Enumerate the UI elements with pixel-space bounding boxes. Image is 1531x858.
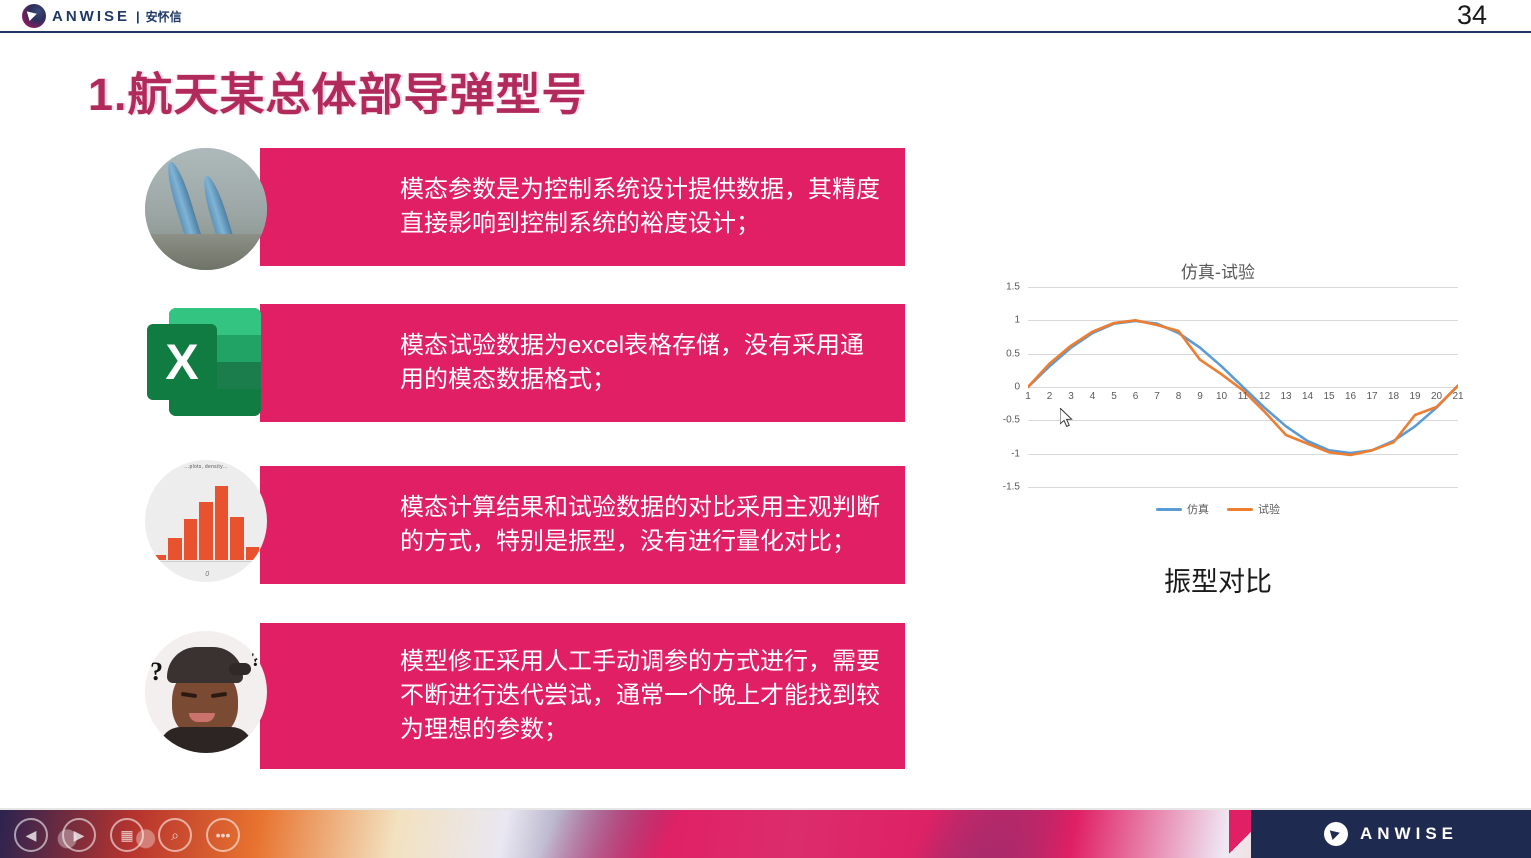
question-mark-icon-right: ? — [251, 649, 261, 672]
slide-canvas: ANWISE | 安怀信 34 1.航天某总体部导弹型号 模态参数是为控制系统设… — [0, 0, 1531, 858]
chart-series-canvas — [1028, 287, 1458, 487]
x-tick-label: 9 — [1197, 391, 1203, 402]
histogram-caption: ...plots, density... — [145, 464, 267, 470]
x-tick-label: 17 — [1366, 391, 1377, 402]
x-tick-label: 5 — [1111, 391, 1117, 402]
x-tick-label: 8 — [1176, 391, 1182, 402]
meme-torso — [159, 727, 253, 753]
footer-brand-name: ANWISE — [1360, 824, 1458, 844]
footer-brand: ANWISE — [1251, 810, 1531, 858]
page-number: 34 — [1457, 0, 1487, 31]
x-tick-label: 15 — [1323, 391, 1334, 402]
missile-photo-icon — [145, 148, 267, 270]
list-item: 模态试验数据为excel表格存储，没有采用通用的模态数据格式； X — [145, 292, 915, 440]
x-tick-label: 14 — [1302, 391, 1313, 402]
slide-grid-icon[interactable]: ▦ — [110, 818, 144, 852]
previous-slide-icon[interactable]: ◀ — [14, 818, 48, 852]
x-tick-label: 19 — [1409, 391, 1420, 402]
meme-cap — [167, 647, 243, 683]
x-tick-label: 21 — [1452, 391, 1463, 402]
x-tick-label: 12 — [1259, 391, 1270, 402]
bullet-banner-3: 模态计算结果和试验数据的对比采用主观判断的方式，特别是振型，没有进行量化对比； — [260, 466, 905, 584]
zoom-search-icon[interactable]: ⌕ — [158, 818, 192, 852]
legend-label: 仿真 — [1187, 501, 1209, 517]
brand-name: ANWISE — [52, 8, 130, 25]
legend-item[interactable]: 仿真 — [1156, 501, 1209, 517]
histogram-chart-icon: ...plots, density... -101 — [145, 460, 267, 582]
legend-item[interactable]: 试验 — [1227, 501, 1280, 517]
bullet-list: 模态参数是为控制系统设计提供数据，其精度直接影响到控制系统的裕度设计； 模态试验… — [145, 148, 915, 791]
confused-face-meme-icon: ? ? — [145, 631, 267, 753]
page-title: 1.航天某总体部导弹型号 — [88, 58, 588, 123]
chart-svg — [1028, 287, 1458, 487]
chart-title: 仿真-试验 — [968, 258, 1468, 283]
top-header-bar: ANWISE | 安怀信 34 — [0, 0, 1531, 33]
chart-y-axis-labels: 1.510.50-0.5-1-1.5 — [988, 287, 1024, 487]
x-tick-label: 7 — [1154, 391, 1160, 402]
brand-separator: | — [136, 9, 140, 24]
question-mark-icon-left: ? — [150, 657, 163, 687]
legend-swatch — [1227, 508, 1253, 511]
y-tick-label: 0.5 — [1006, 348, 1020, 359]
x-tick-label: 2 — [1047, 391, 1053, 402]
list-item: 模态参数是为控制系统设计提供数据，其精度直接影响到控制系统的裕度设计； — [145, 148, 915, 280]
y-tick-label: -1 — [1011, 448, 1020, 459]
chart-series-仿真 — [1028, 321, 1458, 453]
footer-band: ◀▶▦⌕••• ANWISE — [0, 810, 1531, 858]
x-tick-label: 1 — [1025, 391, 1031, 402]
y-tick-label: -1.5 — [1003, 482, 1020, 493]
microsoft-excel-icon: X — [145, 302, 267, 424]
bullet-text: 模态计算结果和试验数据的对比采用主观判断的方式，特别是振型，没有进行量化对比； — [400, 491, 881, 559]
gridline — [1028, 487, 1458, 488]
y-tick-label: 1.5 — [1006, 282, 1020, 293]
list-item: 模型修正采用人工手动调参的方式进行，需要不断进行迭代尝试，通常一个晚上才能找到较… — [145, 619, 915, 779]
brand-logo: ANWISE | 安怀信 — [22, 4, 182, 28]
slideshow-controls[interactable]: ◀▶▦⌕••• — [14, 818, 240, 852]
chart-caption: 振型对比 — [968, 560, 1468, 599]
x-tick-label: 6 — [1133, 391, 1139, 402]
anwise-swirl-logo-icon — [22, 4, 46, 28]
chart-plot-area: 1.510.50-0.5-1-1.5 123456789101112131415… — [988, 287, 1458, 487]
bullet-banner-4: 模型修正采用人工手动调参的方式进行，需要不断进行迭代尝试，通常一个晚上才能找到较… — [260, 623, 905, 769]
brand-name-chinese: 安怀信 — [146, 8, 182, 25]
mouse-cursor-icon — [1060, 408, 1074, 428]
x-tick-label: 11 — [1238, 391, 1248, 402]
x-tick-label: 20 — [1431, 391, 1442, 402]
chart-x-axis-labels: 123456789101112131415161718192021 — [1028, 391, 1458, 407]
x-tick-label: 16 — [1345, 391, 1356, 402]
y-tick-label: 1 — [1014, 315, 1020, 326]
x-tick-label: 3 — [1068, 391, 1074, 402]
x-tick-label: 4 — [1090, 391, 1096, 402]
bullet-banner-2: 模态试验数据为excel表格存储，没有采用通用的模态数据格式； — [260, 304, 905, 422]
photo-ground — [145, 234, 267, 270]
bullet-text: 模态参数是为控制系统设计提供数据，其精度直接影响到控制系统的裕度设计； — [400, 173, 881, 241]
y-tick-label: 0 — [1014, 382, 1020, 393]
histogram-x-labels: -101 — [145, 571, 267, 578]
next-slide-icon[interactable]: ▶ — [62, 818, 96, 852]
bullet-text: 模型修正采用人工手动调参的方式进行，需要不断进行迭代尝试，通常一个晚上才能找到较… — [400, 645, 881, 747]
y-tick-label: -0.5 — [1003, 415, 1020, 426]
x-tick-label: 18 — [1388, 391, 1399, 402]
x-tick-label: 10 — [1216, 391, 1227, 402]
legend-swatch — [1156, 508, 1182, 511]
list-item: 模态计算结果和试验数据的对比采用主观判断的方式，特别是振型，没有进行量化对比； … — [145, 452, 915, 607]
comparison-line-chart: 仿真-试验 1.510.50-0.5-1-1.5 123456789101112… — [968, 258, 1468, 538]
excel-x-letter: X — [147, 324, 217, 400]
chart-legend: 仿真试验 — [968, 501, 1468, 517]
bullet-text: 模态试验数据为excel表格存储，没有采用通用的模态数据格式； — [400, 329, 881, 397]
x-tick-label: 13 — [1280, 391, 1291, 402]
legend-label: 试验 — [1258, 501, 1280, 517]
bullet-banner-1: 模态参数是为控制系统设计提供数据，其精度直接影响到控制系统的裕度设计； — [260, 148, 905, 266]
histogram-axis-line — [153, 561, 259, 562]
anwise-swirl-logo-icon — [1324, 822, 1348, 846]
histogram-bars — [153, 486, 259, 560]
more-options-icon[interactable]: ••• — [206, 818, 240, 852]
